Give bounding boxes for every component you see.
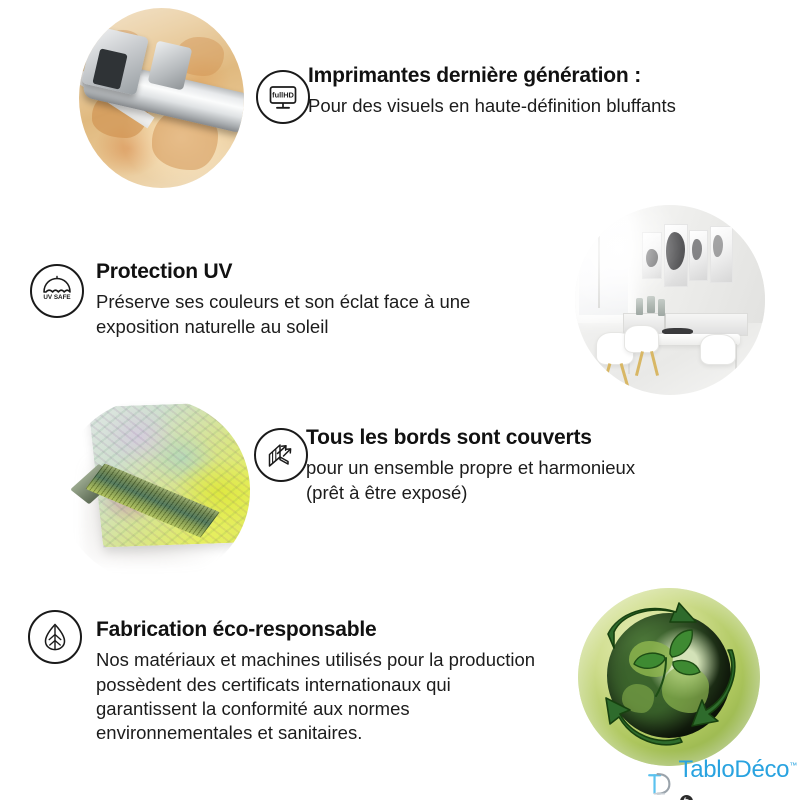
description-line: Préserve ses couleurs et son éclat face … [96,290,470,314]
printer-roller-world-map-photo [79,8,244,188]
description-line: possèdent des certificats internationaux… [96,673,535,697]
fullhd-label: fullHD [272,91,294,100]
chair-leg [635,351,643,376]
description-line: environnementales et sanitaires. [96,721,535,745]
photo-vignette [578,588,760,766]
wrapped-edge-icon [254,428,308,482]
feature-description: Pour des visuels en haute-définition blu… [308,94,676,118]
description-line: garantissent la conformité aux normes [96,697,535,721]
fullhd-monitor-icon: fullHD [256,70,310,124]
logo-brand-part1: Tablo [679,756,735,783]
tablodeco-logo[interactable]: TabloDéco™fr [646,756,800,800]
feature-description: Nos matériaux et machines utilisés pour … [96,648,535,746]
feature-title: Tous les bords sont couverts [306,425,635,450]
wall-canvas-panel [689,230,708,281]
description-line: Pour des visuels en haute-définition blu… [308,94,676,118]
feature-title: Imprimantes dernière génération : [308,63,676,88]
dining-chair [700,334,736,364]
tablodeco-td-monogram [646,769,674,799]
canvas-corner-photo [60,398,250,583]
uv-safe-umbrella-icon: UV SAFE [30,264,84,318]
feature-infographic-page: fullHD Imprimantes dernière génération :… [0,0,800,800]
feature-text-eco-manufacturing: Fabrication éco-responsable Nos matériau… [96,617,535,746]
dining-room-canvas-photo [575,205,765,395]
feature-title: Protection UV [96,259,470,284]
description-line: pour un ensemble propre et harmonieux [306,456,635,480]
trademark-symbol: ™ [789,761,797,770]
feature-title: Fabrication éco-responsable [96,617,535,642]
logo-brand-part2: Déco [734,756,789,783]
feature-description: Préserve ses couleurs et son éclat face … [96,290,470,339]
chair-leg [650,351,658,376]
wall-canvas-panel [710,226,733,283]
feature-text-uv-protection: Protection UV Préserve ses couleurs et s… [96,259,470,339]
description-line: exposition naturelle au soleil [96,315,470,339]
chair-leg [602,363,611,387]
feature-text-print-quality: Imprimantes dernière génération : Pour d… [308,63,676,119]
tld-badge: fr [680,795,693,800]
leaf-icon [28,610,82,664]
feature-description: pour un ensemble propre et harmonieux (p… [306,456,635,505]
description-line: Nos matériaux et machines utilisés pour … [96,648,535,672]
dining-chair [624,325,658,354]
logo-wordmark: TabloDéco™fr [679,756,800,800]
feature-text-covered-edges: Tous les bords sont couverts pour un ens… [306,425,635,505]
window-light-glow [575,205,685,315]
chair-leg [619,363,628,387]
description-line: (prêt à être exposé) [306,481,635,505]
eco-globe-recycling-photo [578,588,760,766]
uv-safe-label: UV SAFE [43,294,70,301]
